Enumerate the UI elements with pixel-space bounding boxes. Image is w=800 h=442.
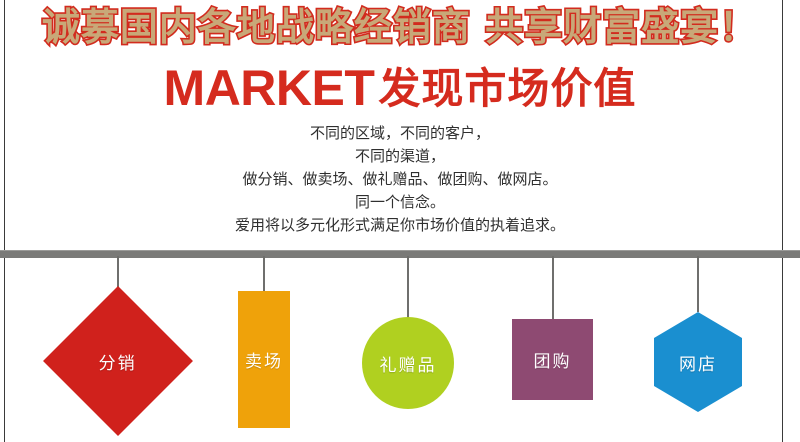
node-tuangou[interactable]: 团购 <box>512 319 593 400</box>
node-wangdian[interactable]: 网店 <box>654 312 742 412</box>
body-line-1: 不同的区域，不同的客户， <box>100 122 700 145</box>
horizontal-rail <box>0 250 800 258</box>
stem-wangdian <box>697 256 699 312</box>
stem-tuangou <box>552 256 554 320</box>
node-fenxiao-label: 分销 <box>99 349 137 374</box>
title-english: MARKET <box>164 60 375 116</box>
banner-headline: 诚募国内各地战略经销商 共享财富盛宴！ <box>0 4 800 50</box>
bottom-arc-decoration <box>545 398 800 442</box>
body-line-4: 同一个信念。 <box>100 191 700 214</box>
stem-lizengpin <box>407 256 409 318</box>
node-lizengpin[interactable]: 礼赠品 <box>362 317 454 409</box>
title-chinese: 发现市场价值 <box>378 64 636 113</box>
page-title: MARKET发现市场价值 <box>0 62 800 127</box>
stem-maichang <box>263 256 265 292</box>
node-tuangou-label: 团购 <box>534 347 572 372</box>
node-maichang[interactable]: 卖场 <box>238 291 290 428</box>
node-wangdian-label: 网店 <box>679 350 717 375</box>
body-copy: 不同的区域，不同的客户， 不同的渠道， 做分销、做卖场、做礼赠品、做团购、做网店… <box>100 122 700 237</box>
poster-canvas: 诚募国内各地战略经销商 共享财富盛宴！ MARKET发现市场价值 不同的区域，不… <box>0 0 800 442</box>
node-maichang-label: 卖场 <box>245 347 283 372</box>
node-lizengpin-label: 礼赠品 <box>380 351 437 376</box>
body-line-3: 做分销、做卖场、做礼赠品、做团购、做网店。 <box>100 168 700 191</box>
node-fenxiao[interactable]: 分销 <box>43 286 193 436</box>
body-line-5: 爱用将以多元化形式满足你市场价值的执着追求。 <box>100 214 700 237</box>
body-line-2: 不同的渠道， <box>100 145 700 168</box>
